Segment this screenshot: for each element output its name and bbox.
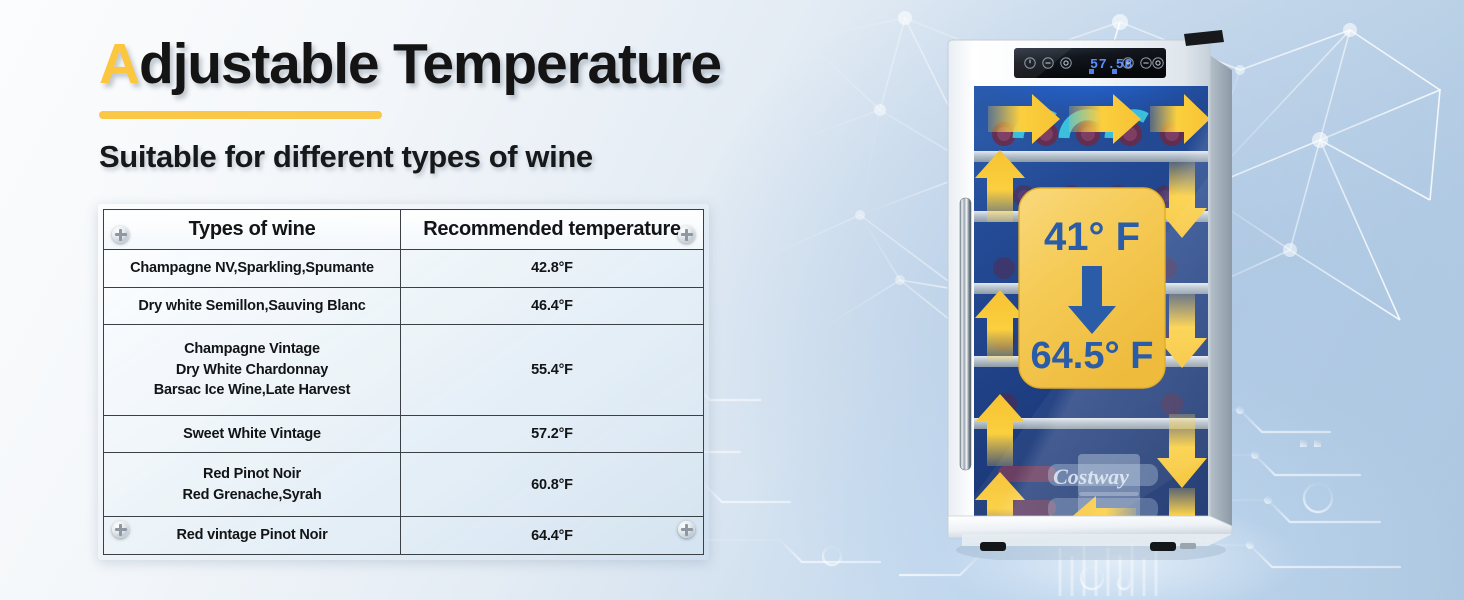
wine-type-line: Champagne NV,Sparkling,Spumante [110,258,394,279]
control-panel[interactable]: 57.58 [1014,48,1166,78]
cell-temperature: 42.8°F [401,250,704,288]
badge-min-temperature: 41° F [1044,215,1140,259]
foot-detail [1180,543,1196,549]
wine-type-line: Red vintage Pinot Noir [110,525,394,546]
screw-icon [112,226,129,243]
display-indicator [1089,69,1094,74]
table-header: Types of wine Recommended temperature [104,210,704,250]
screw-icon [678,521,695,538]
cell-wine-type: Sweet White Vintage [104,415,401,453]
table-row: Sweet White Vintage 57.2°F [104,415,704,453]
wine-cooler-svg: Costway [936,26,1246,560]
cell-temperature: 64.4°F [401,517,704,555]
title-accent-letter: A [99,32,139,96]
column-header-temperature: Recommended temperature [401,210,704,250]
page-subtitle: Suitable for different types of wine [99,139,859,175]
heading-block: Adjustable Temperature Suitable for diff… [99,34,859,175]
wine-temperature-table-panel: Types of wine Recommended temperature Ch… [98,204,709,560]
wine-type-line: Barsac Ice Wine,Late Harvest [110,380,394,401]
cell-wine-type: Red vintage Pinot Noir [104,517,401,555]
temperature-range-badge: 41° F 64.5° F [1019,188,1165,388]
screw-icon [678,226,695,243]
temperature-display: 57.58 [1090,58,1133,73]
wine-cooler-illustration: Costway [936,26,1246,560]
title-underline [99,111,382,119]
badge-max-temperature: 64.5° F [1031,335,1154,377]
door-handle[interactable] [960,198,971,470]
table-body: Champagne NV,Sparkling,Spumante 42.8°F D… [104,250,704,555]
wine-type-line: Red Pinot Noir [110,464,394,485]
cell-wine-type: Dry white Semillon,Sauving Blanc [104,287,401,325]
wine-type-line: Dry White Chardonnay [110,360,394,381]
promo-banner: Adjustable Temperature Suitable for diff… [0,0,1464,600]
page-title: Adjustable Temperature [99,34,859,96]
table-row: Champagne NV,Sparkling,Spumante 42.8°F [104,250,704,288]
cell-temperature: 57.2°F [401,415,704,453]
cell-wine-type: Red Pinot Noir Red Grenache,Syrah [104,453,401,517]
cell-temperature: 60.8°F [401,453,704,517]
wine-temperature-table: Types of wine Recommended temperature Ch… [103,209,704,555]
cell-temperature: 55.4°F [401,325,704,415]
title-rest: djustable Temperature [139,32,721,96]
table-header-row: Types of wine Recommended temperature [104,210,704,250]
display-indicator [1112,69,1117,74]
table-row: Red vintage Pinot Noir 64.4°F [104,517,704,555]
cell-temperature: 46.4°F [401,287,704,325]
column-header-wine-type: Types of wine [104,210,401,250]
foot-left [980,542,1006,551]
cell-wine-type: Champagne Vintage Dry White Chardonnay B… [104,325,401,415]
table-row: Champagne Vintage Dry White Chardonnay B… [104,325,704,415]
table-row: Dry white Semillon,Sauving Blanc 46.4°F [104,287,704,325]
wine-type-line: Sweet White Vintage [110,424,394,445]
wine-type-line: Dry white Semillon,Sauving Blanc [110,296,394,317]
cell-wine-type: Champagne NV,Sparkling,Spumante [104,250,401,288]
hinge-cap-icon [1184,30,1224,46]
wine-type-line: Red Grenache,Syrah [110,485,394,506]
cabinet-side-panel [1208,54,1232,538]
screw-icon [112,521,129,538]
table-row: Red Pinot Noir Red Grenache,Syrah 60.8°F [104,453,704,517]
wine-type-line: Champagne Vintage [110,339,394,360]
foot-right [1150,542,1176,551]
